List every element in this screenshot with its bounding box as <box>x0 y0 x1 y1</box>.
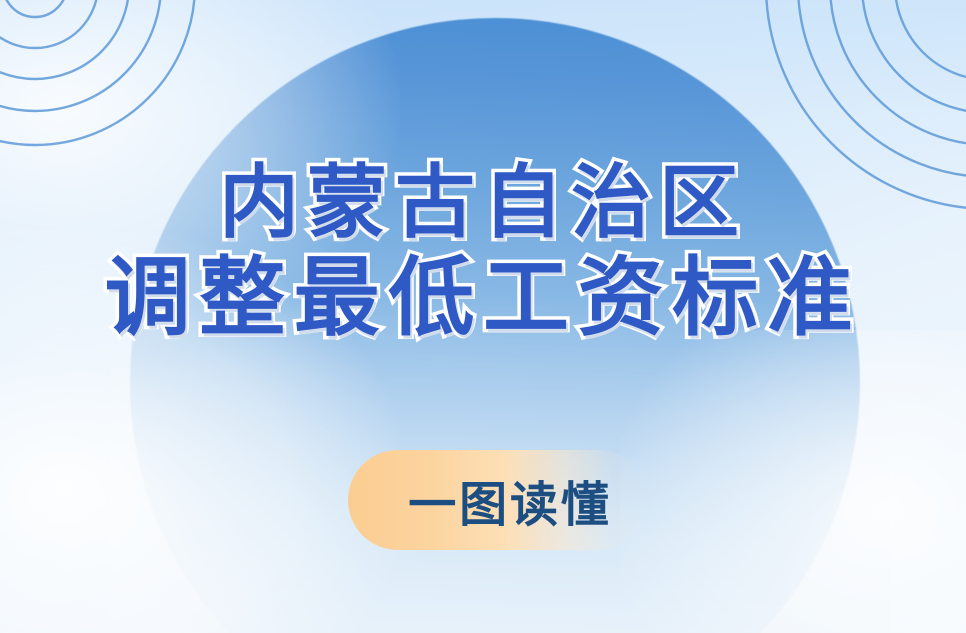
top-left-rings-decoration <box>0 0 220 170</box>
poster-canvas: 内蒙古自治区 调整最低工资标准 一图读懂 <box>0 0 966 633</box>
read-in-one-image-badge: 一图读懂 <box>348 450 648 550</box>
poster-title-line-2: 调整最低工资标准 <box>0 252 966 345</box>
poster-title-line-1: 内蒙古自治区 <box>0 160 966 246</box>
badge-label: 一图读懂 <box>348 450 648 550</box>
headline-block: 内蒙古自治区 调整最低工资标准 <box>0 160 966 345</box>
